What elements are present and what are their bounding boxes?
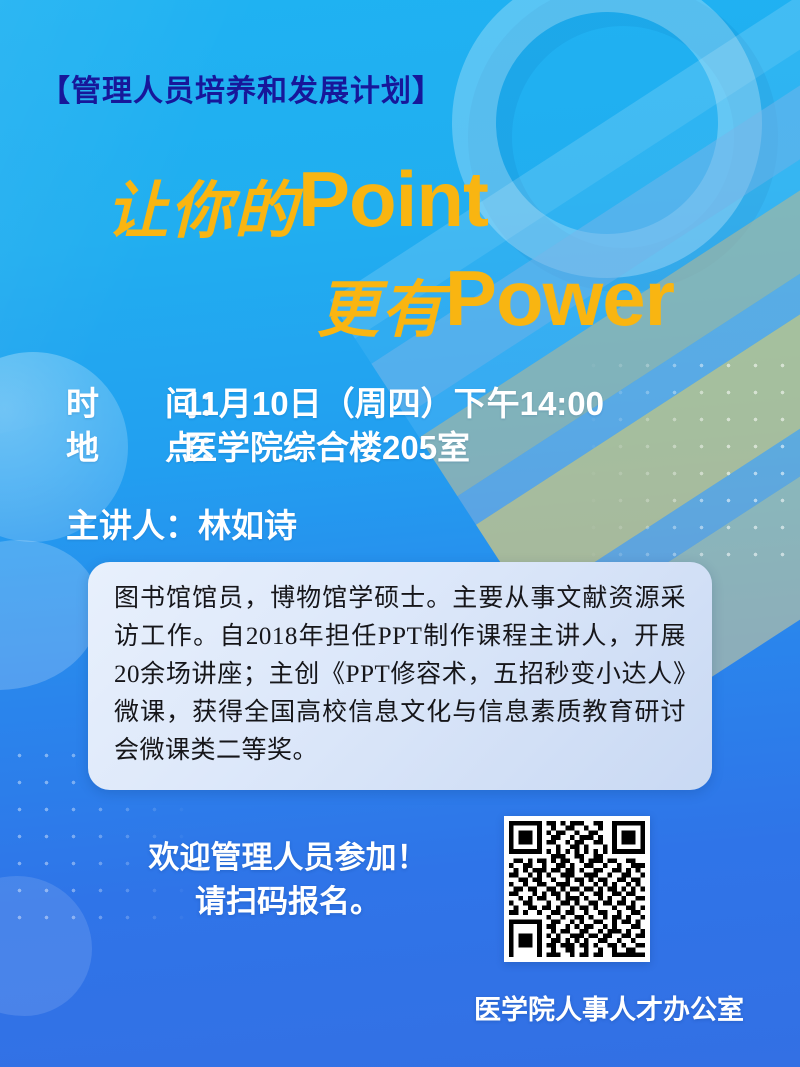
detail-value-location: 医学院综合楼205室 [184,429,470,466]
blob-decoration-mid-left [0,540,100,690]
qr-code[interactable] [504,816,650,962]
title-line1-chinese: 让你的 [106,178,298,246]
cta-line-1: 欢迎管理人员参加！ [108,836,468,880]
poster-canvas: 【管理人员培养和发展计划】 让你的Point 更有Power 时 间：11月10… [0,0,800,1067]
detail-row-time: 时 间：11月10日（周四）下午14:00 [66,382,766,426]
speaker-bio-text: 图书馆馆员，博物馆学硕士。主要从事文献资源采访工作。自2018年担任PPT制作课… [114,580,686,770]
blob-decoration-lower-left [0,876,92,1016]
event-details: 时 间：11月10日（周四）下午14:00 地 点：医学院综合楼205室 主讲人… [66,382,766,547]
speaker-line: 主讲人：林如诗 [66,499,766,547]
main-title: 让你的Point 更有Power [0,160,760,342]
program-kicker: 【管理人员培养和发展计划】 [40,66,443,110]
qr-code-image [509,821,645,957]
title-line1-english: Point [298,155,488,243]
detail-value-time: 11月10日（周四）下午14:00 [184,385,604,422]
footer-organization: 医学院人事人才办公室 [474,988,744,1027]
title-line2-chinese: 更有 [317,277,445,345]
title-line2-english: Power [445,254,674,342]
speaker-bio-box: 图书馆馆员，博物馆学硕士。主要从事文献资源采访工作。自2018年担任PPT制作课… [88,562,712,790]
detail-label-location: 地 点： [66,426,184,470]
cta-line-2: 请扫码报名。 [108,880,468,924]
detail-label-time: 时 间： [66,382,184,426]
detail-row-location: 地 点：医学院综合楼205室 [66,426,766,470]
call-to-action: 欢迎管理人员参加！ 请扫码报名。 [108,836,468,924]
